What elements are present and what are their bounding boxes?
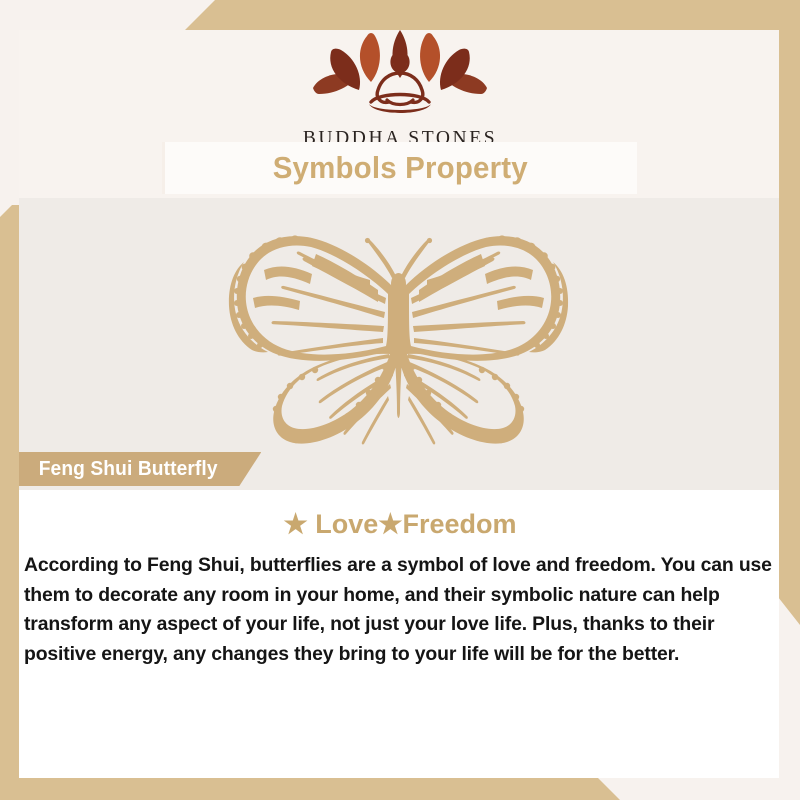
feng-shui-tag: Feng Shui Butterfly xyxy=(19,452,261,486)
title-banner: Symbols Property xyxy=(163,142,637,194)
lotus-meditation-figure-icon xyxy=(305,26,495,126)
tag-label: Feng Shui Butterfly xyxy=(39,458,218,481)
page-title: Symbols Property xyxy=(272,150,527,186)
butterfly-icon xyxy=(220,226,580,446)
poster-root: BUDDHA STONES Symbols Property xyxy=(0,0,800,800)
panel-footer xyxy=(19,686,779,778)
section-paragraph: According to Feng Shui, butterflies are … xyxy=(24,551,780,669)
section-subheading: ★ Love★Freedom xyxy=(0,509,800,540)
frame-bottom-bar xyxy=(0,778,800,800)
hero-illustration xyxy=(0,226,800,446)
title-banner-edge xyxy=(162,142,165,194)
brand-logo: BUDDHA STONES xyxy=(0,26,800,150)
